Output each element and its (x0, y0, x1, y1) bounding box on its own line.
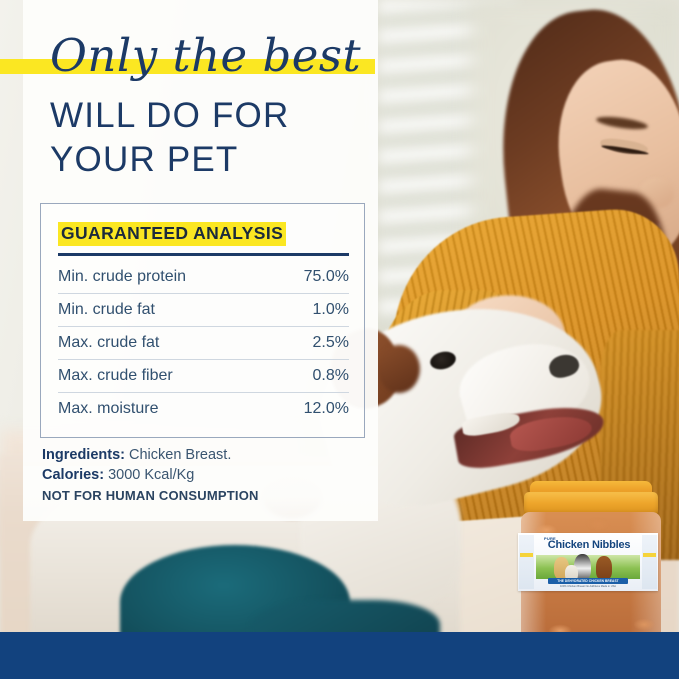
table-row: Min. crude fat 1.0% (58, 294, 349, 327)
human-consumption-warning: NOT FOR HUMAN CONSUMPTION (42, 488, 259, 503)
label-side-left (519, 535, 534, 589)
guaranteed-analysis-box: GUARANTEED ANALYSIS Min. crude protein 7… (40, 203, 365, 438)
nutrient-value: 75.0% (273, 261, 349, 294)
label-product-name: Chicken Nibbles (539, 539, 639, 551)
ingredients-label: Ingredients: (42, 447, 125, 463)
nutrient-label: Max. crude fiber (58, 360, 273, 393)
label-band-text: THE DEHYDRATED CHICKEN BREAST (548, 578, 628, 584)
nutrient-value: 2.5% (273, 327, 349, 360)
nutrient-label: Min. crude fat (58, 294, 273, 327)
nutrient-label: Min. crude protein (58, 261, 273, 294)
label-accent-left (520, 553, 533, 557)
headline-script: Only the best (0, 32, 400, 80)
table-row: Max. crude fat 2.5% (58, 327, 349, 360)
jar-label: PURE Chicken Nibbles THE DEHYDRATED CHIC… (518, 533, 658, 591)
calories-value: 3000 Kcal/Kg (108, 467, 194, 483)
footnotes-block: Ingredients: Chicken Breast. Calories: 3… (42, 445, 372, 485)
dog-ear-secondary (378, 345, 420, 393)
nutrient-label: Max. crude fat (58, 327, 273, 360)
nutrient-value: 1.0% (273, 294, 349, 327)
headline-subline: WILL DO FOR YOUR PET (50, 94, 380, 182)
calories-label: Calories: (42, 467, 104, 483)
label-dog-artwork (536, 552, 640, 580)
headline-block: Only the best WILL DO FOR YOUR PET (0, 32, 400, 80)
table-row: Max. moisture 12.0% (58, 393, 349, 426)
advertisement-image: Only the best WILL DO FOR YOUR PET GUARA… (0, 0, 679, 679)
ingredients-value: Chicken Breast. (129, 447, 231, 463)
label-fine-print: 100% Chicken Breast No Additives Made in… (548, 585, 628, 588)
guaranteed-analysis-rule (58, 253, 349, 256)
table-row: Max. crude fiber 0.8% (58, 360, 349, 393)
label-dog-shepherd (596, 556, 612, 580)
label-accent-right (643, 553, 656, 557)
nutrient-value: 0.8% (273, 360, 349, 393)
bottom-banner (0, 632, 679, 679)
table-row: Min. crude protein 75.0% (58, 261, 349, 294)
label-band: THE DEHYDRATED CHICKEN BREAST (548, 578, 628, 584)
nutrient-value: 12.0% (273, 393, 349, 426)
label-side-right (642, 535, 657, 589)
guaranteed-analysis-table: Min. crude protein 75.0% Min. crude fat … (58, 261, 349, 425)
guaranteed-analysis-title: GUARANTEED ANALYSIS (58, 222, 286, 246)
nutrient-label: Max. moisture (58, 393, 273, 426)
